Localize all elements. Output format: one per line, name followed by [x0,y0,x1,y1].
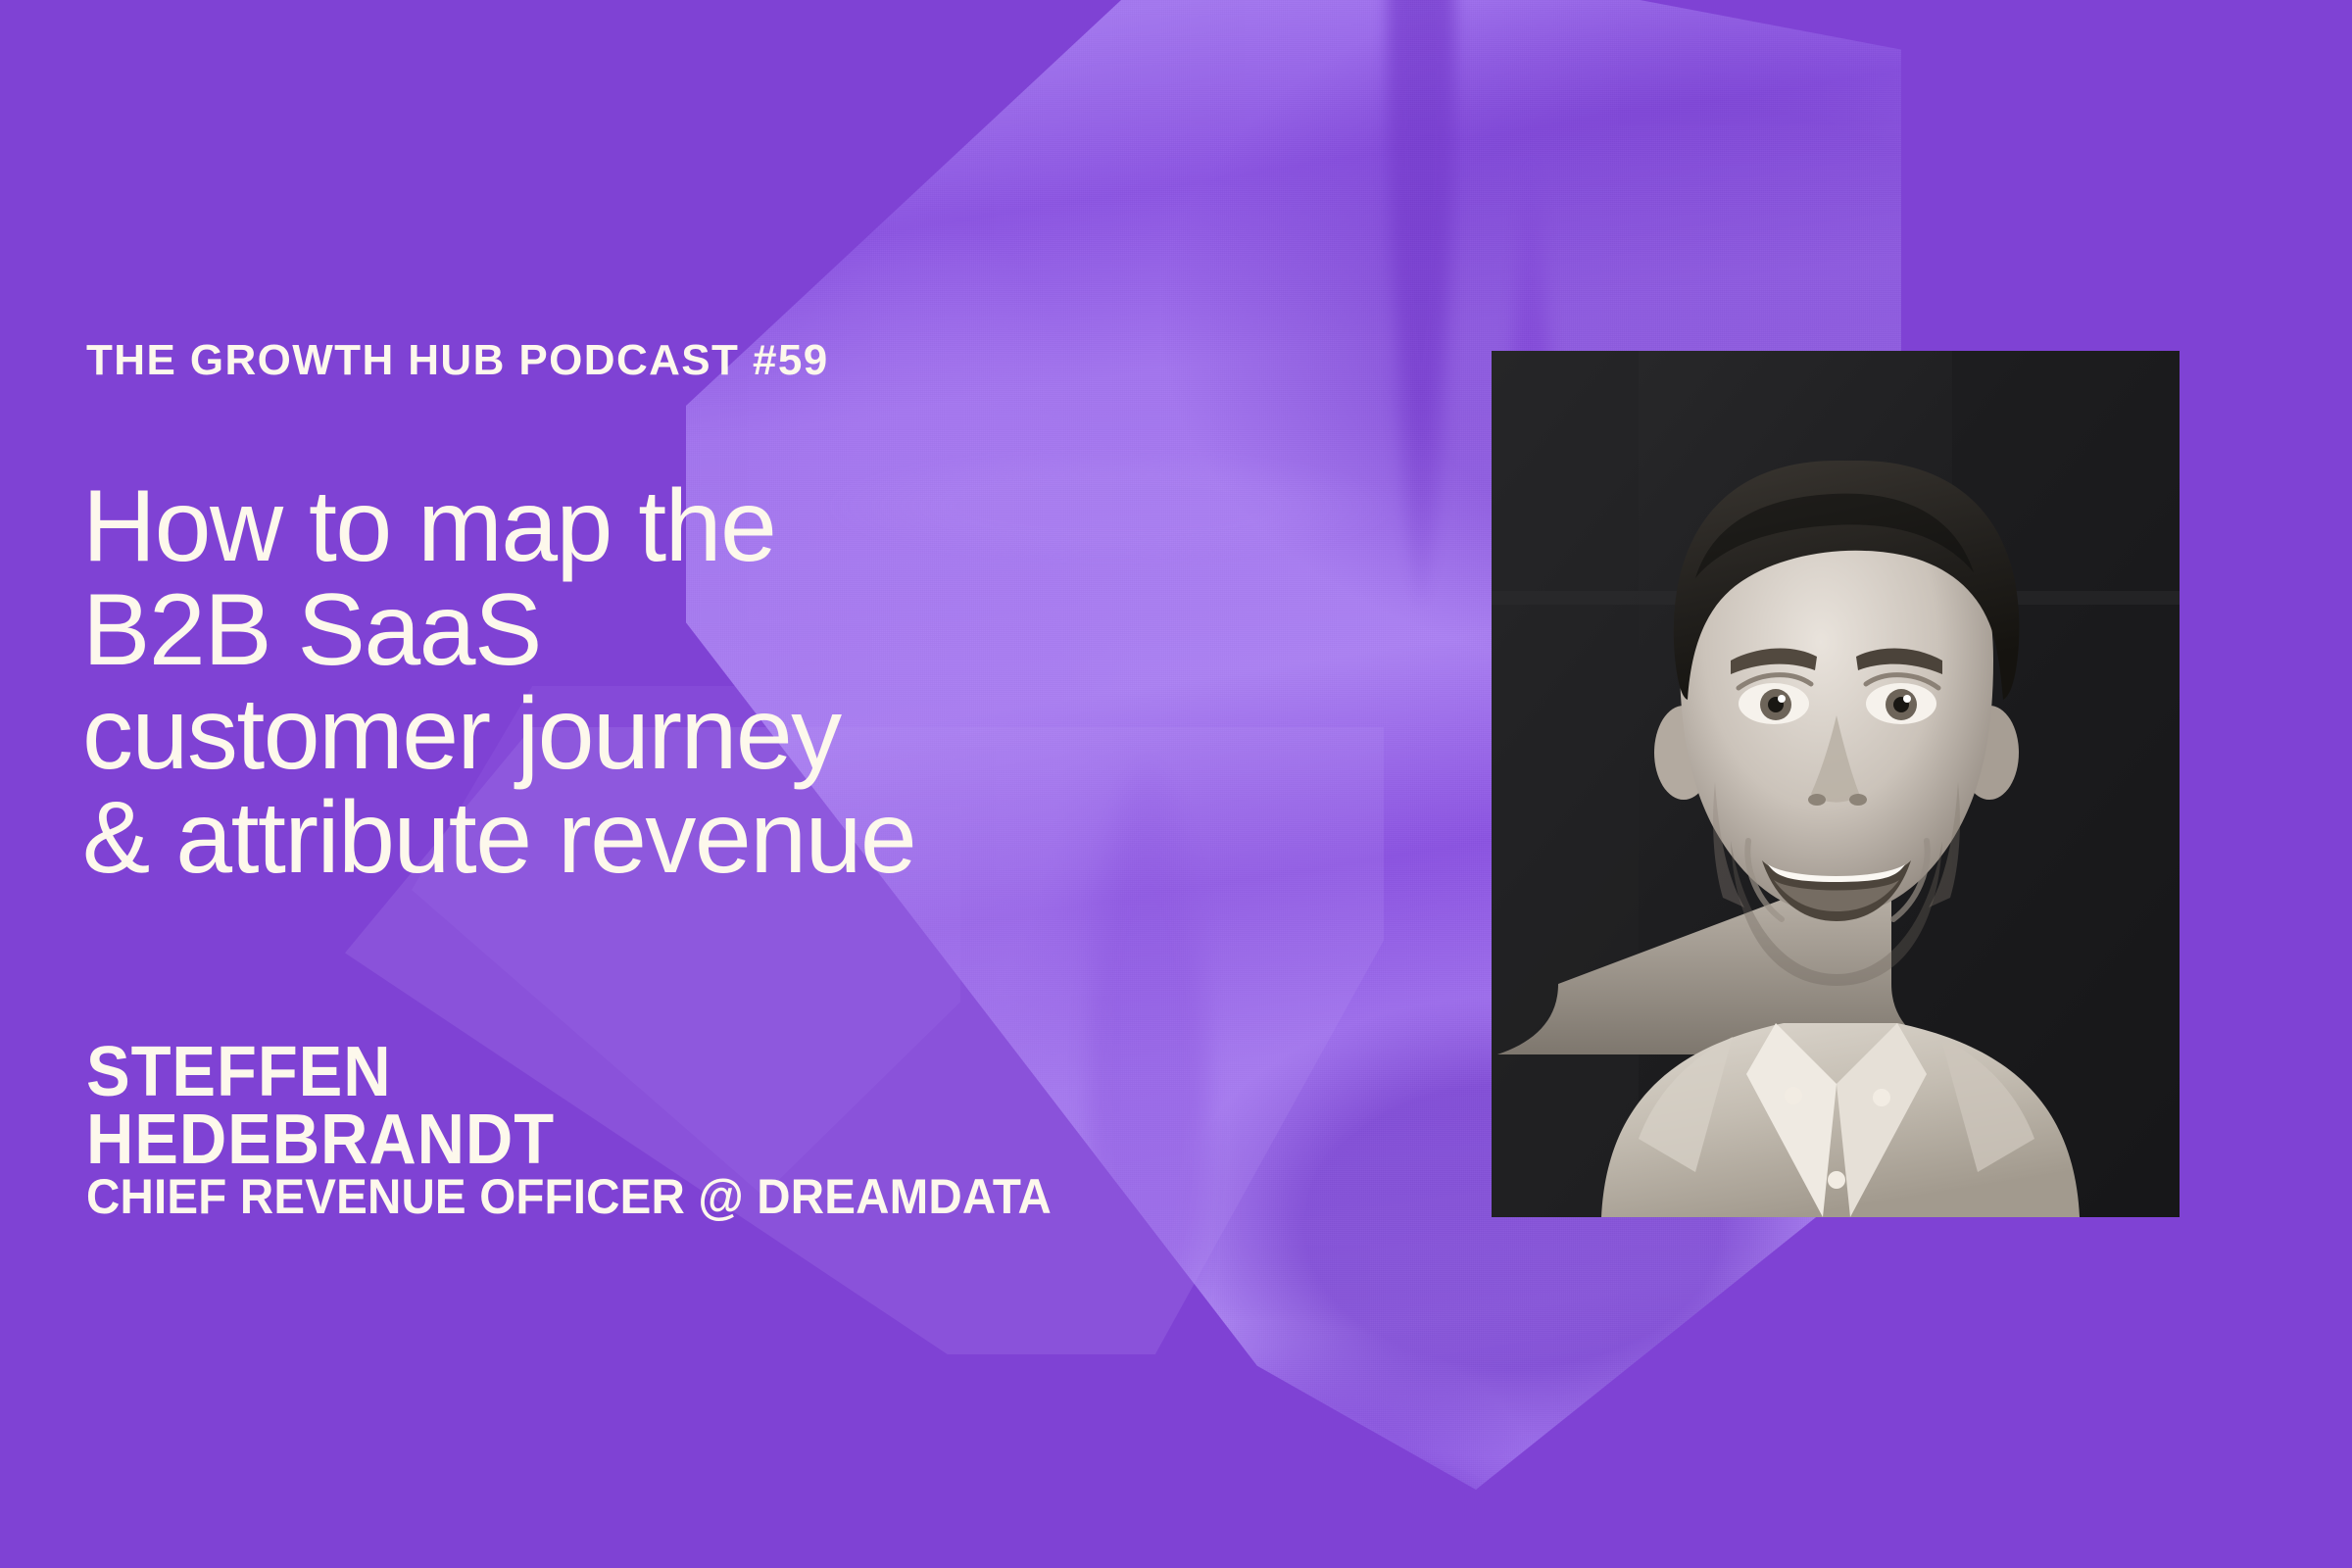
speaker-portrait-photo [1492,351,2180,1217]
speaker-role: CHIEF REVENUE OFFICER @ DREAMDATA [86,1172,1052,1221]
podcast-episode-cover: THE GROWTH HUB PODCAST #59 How to map th… [0,0,2352,1568]
episode-title: How to map the B2B SaaS customer journey… [82,474,1494,890]
portrait-illustration [1492,351,2180,1217]
text-content-block: THE GROWTH HUB PODCAST #59 How to map th… [86,0,1478,1568]
speaker-name: STEFFEN HEDEBRANDT [86,1039,555,1174]
podcast-eyebrow-label: THE GROWTH HUB PODCAST #59 [86,339,829,382]
